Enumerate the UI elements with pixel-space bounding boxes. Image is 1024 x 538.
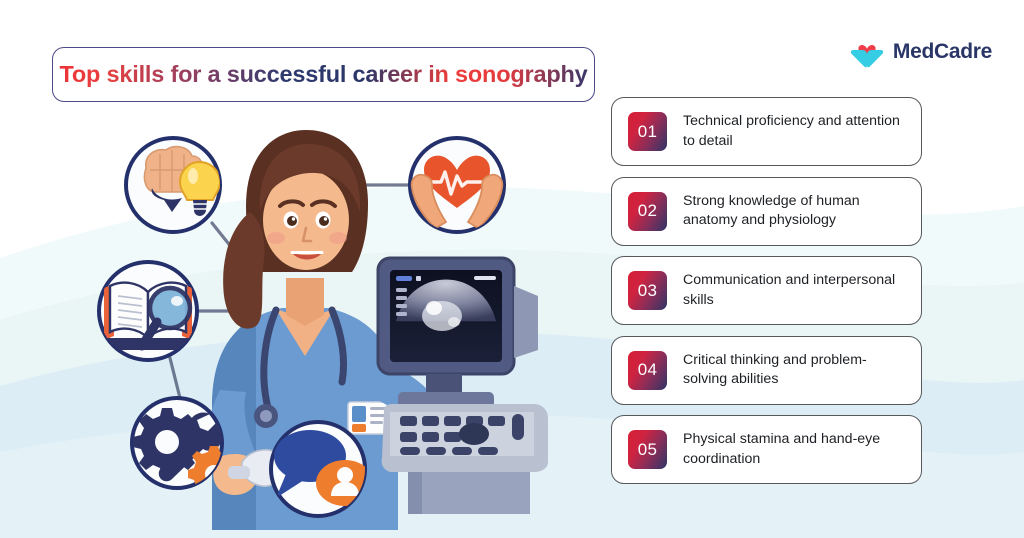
skill-card-01[interactable]: 01 Technical proficiency and attention t… (611, 97, 922, 166)
skill-card-02[interactable]: 02 Strong knowledge of human anatomy and… (611, 177, 922, 246)
brain-lightbulb-icon (126, 138, 237, 232)
brand-logo[interactable]: MedCadre (850, 36, 992, 68)
brand-logo-text: MedCadre (893, 40, 992, 64)
sonographer-illustration (60, 110, 600, 530)
skill-number-badge: 01 (628, 112, 667, 151)
cheek-right (329, 232, 347, 244)
skill-number-badge: 04 (628, 351, 667, 390)
book-magnifier-icon (99, 262, 197, 360)
page-title: Top skills for a successful career in so… (59, 61, 587, 88)
cheek-left (267, 232, 285, 244)
heart-in-hands-icon (850, 36, 884, 68)
skill-card-04[interactable]: 04 Critical thinking and problem-solving… (611, 336, 922, 405)
skill-text: Communication and interpersonal skills (683, 271, 905, 310)
skill-number-badge: 05 (628, 430, 667, 469)
skill-number-badge: 03 (628, 271, 667, 310)
monitor-stand (426, 374, 462, 392)
machine-cart (408, 472, 530, 514)
page-title-box: Top skills for a successful career in so… (52, 47, 595, 102)
heart-hands-icon (410, 138, 504, 232)
skill-card-05[interactable]: 05 Physical stamina and hand-eye coordin… (611, 415, 922, 484)
ponytail (223, 212, 264, 329)
book-page-left (110, 283, 148, 338)
skills-list: 01 Technical proficiency and attention t… (611, 97, 922, 495)
skill-text: Strong knowledge of human anatomy and ph… (683, 192, 905, 231)
skill-text: Physical stamina and hand-eye coordinati… (683, 430, 905, 469)
console-trackball (459, 423, 489, 445)
skill-text: Critical thinking and problem-solving ab… (683, 351, 905, 390)
monitor-side-panel (514, 286, 538, 358)
skill-card-03[interactable]: 03 Communication and interpersonal skill… (611, 256, 922, 325)
skill-text: Technical proficiency and attention to d… (683, 112, 905, 151)
skill-number-badge: 02 (628, 192, 667, 231)
